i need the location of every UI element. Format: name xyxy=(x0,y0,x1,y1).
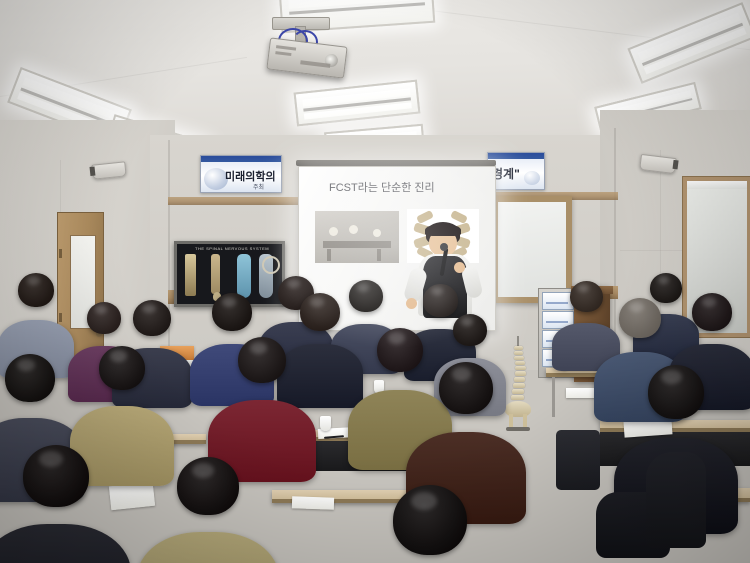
hair-highlight xyxy=(250,342,267,354)
hair-highlight xyxy=(452,367,471,381)
lecture-hall-photo: 미래의학의 주최 경계" THE SPINAL NERVOUS SYSTEM F… xyxy=(0,0,750,563)
hair-highlight xyxy=(357,283,369,291)
hair-highlight xyxy=(702,297,716,307)
hair-highlight xyxy=(222,297,236,307)
hair-highlight xyxy=(192,463,214,478)
audience-member-torso xyxy=(277,344,363,408)
hair-highlight xyxy=(310,297,324,307)
hair-highlight xyxy=(461,317,473,325)
hair-highlight xyxy=(577,284,589,292)
hair-highlight xyxy=(142,304,156,313)
hair-highlight xyxy=(27,276,40,285)
hair-highlight xyxy=(110,350,127,361)
hair-highlight xyxy=(95,305,107,313)
audience-member-torso xyxy=(137,532,279,563)
hair-highlight xyxy=(388,332,405,343)
audience-member-torso xyxy=(0,524,131,563)
hair-highlight xyxy=(658,276,670,284)
chair-back xyxy=(556,430,600,490)
hair-highlight xyxy=(287,279,300,288)
coat-on-chair xyxy=(646,452,706,548)
audience xyxy=(0,0,750,563)
hair-highlight xyxy=(39,451,63,467)
